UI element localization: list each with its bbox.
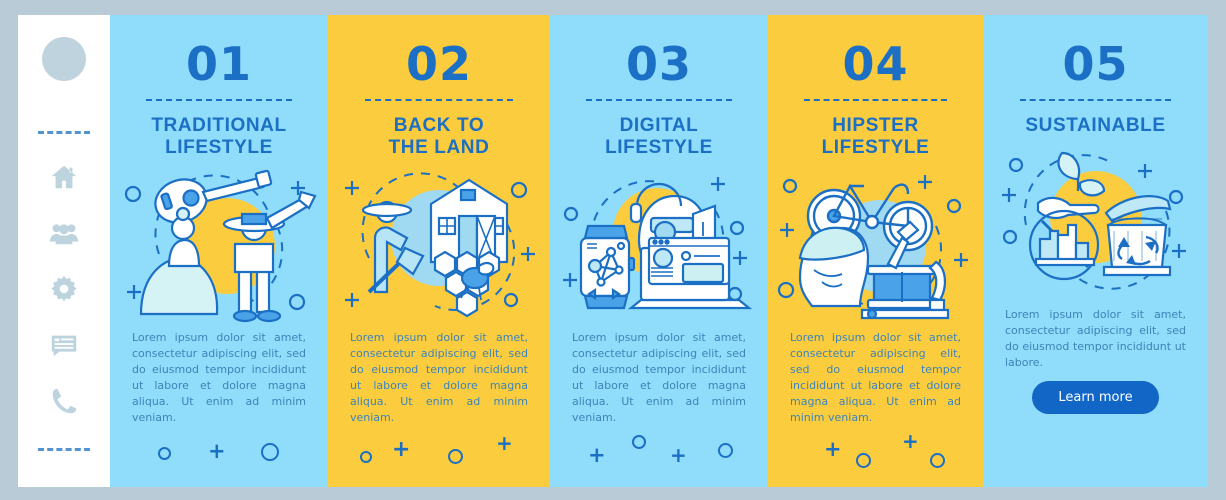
panel-number: 02	[344, 41, 534, 87]
deco-circle	[448, 449, 463, 464]
illustration-hipster-bike-head	[784, 166, 967, 326]
panel-title-line-2: LIFESTYLE	[126, 137, 312, 159]
sidebar	[18, 15, 110, 487]
phone-icon	[49, 386, 79, 416]
sidebar-divider-top	[38, 131, 90, 134]
onboarding-screens-container: 01 TRADITIONAL LIFESTYLE	[0, 0, 1226, 500]
panel-decorations: + +	[344, 431, 534, 485]
onboarding-panel-4[interactable]: 04 HIPSTER LIFESTYLE	[768, 15, 983, 487]
panel-title: BACK TO THE LAND	[344, 115, 534, 160]
panel-divider	[365, 99, 513, 101]
deco-circle	[158, 447, 171, 460]
sidebar-item-call[interactable]	[47, 384, 81, 418]
panel-divider	[146, 99, 291, 101]
illustration-folk-musicians	[126, 166, 312, 326]
deco-plus: +	[496, 433, 513, 453]
panel-title-line-1: BACK TO	[344, 115, 534, 137]
deco-plus: +	[392, 439, 410, 461]
panel-title: HIPSTER LIFESTYLE	[784, 115, 967, 160]
panel-body-text: Lorem ipsum dolor sit amet, consectetur …	[1005, 307, 1186, 371]
panel-title-line-2: LIFESTYLE	[566, 137, 752, 159]
panel-title: SUSTAINABLE	[999, 115, 1192, 137]
panel-number: 03	[566, 41, 752, 87]
panel-divider	[804, 99, 947, 101]
avatar[interactable]	[42, 37, 86, 81]
panel-body-text: Lorem ipsum dolor sit amet, consectetur …	[572, 330, 746, 426]
panel-title: DIGITAL LIFESTYLE	[566, 115, 752, 160]
deco-plus: +	[902, 431, 919, 451]
illustration-farm-barn-bee	[344, 166, 534, 326]
panel-title-line-2: THE LAND	[344, 137, 534, 159]
sidebar-nav	[47, 160, 81, 418]
deco-circle	[261, 443, 279, 461]
deco-plus: +	[824, 439, 842, 460]
panel-number: 05	[999, 41, 1192, 87]
panel-divider	[586, 99, 731, 101]
panel-number: 04	[784, 41, 967, 87]
group-icon	[49, 218, 79, 248]
gear-icon	[49, 274, 79, 304]
deco-circle	[632, 435, 646, 449]
onboarding-panel-1[interactable]: 01 TRADITIONAL LIFESTYLE	[110, 15, 328, 487]
home-icon	[49, 162, 79, 192]
panel-title-line-1: TRADITIONAL	[126, 115, 312, 137]
deco-circle	[930, 453, 945, 468]
panel-body-text: Lorem ipsum dolor sit amet, consectetur …	[132, 330, 306, 426]
deco-plus: +	[588, 445, 606, 466]
panel-number: 01	[126, 41, 312, 87]
deco-plus: +	[670, 445, 687, 465]
panel-body-text: Lorem ipsum dolor sit amet, consectetur …	[790, 330, 961, 426]
sidebar-item-home[interactable]	[47, 160, 81, 194]
panel-title-line-2: LIFESTYLE	[784, 137, 967, 159]
panel-decorations: +	[126, 431, 312, 485]
panel-decorations: + +	[784, 431, 967, 485]
panel-decorations: + +	[566, 431, 752, 485]
deco-circle	[856, 453, 871, 468]
onboarding-panel-5[interactable]: 05 SUSTAINABLE	[983, 15, 1208, 487]
deco-circle	[718, 443, 733, 458]
deco-plus: +	[208, 441, 226, 462]
onboarding-panel-3[interactable]: 03 DIGITAL LIFESTYLE	[550, 15, 768, 487]
sidebar-item-messages[interactable]	[47, 328, 81, 362]
panel-title-line-1: SUSTAINABLE	[999, 115, 1192, 137]
panel-divider	[1020, 99, 1171, 101]
chat-list-icon	[49, 330, 79, 360]
sidebar-item-settings[interactable]	[47, 272, 81, 306]
learn-more-button[interactable]: Learn more	[1032, 381, 1158, 414]
onboarding-panel-2[interactable]: 02 BACK TO THE LAND	[328, 15, 550, 487]
panel-title-line-1: DIGITAL	[566, 115, 752, 137]
panel-title-line-1: HIPSTER	[784, 115, 967, 137]
sidebar-divider-bottom	[38, 448, 90, 451]
panel-body-text: Lorem ipsum dolor sit amet, consectetur …	[350, 330, 528, 426]
illustration-sustainability	[999, 143, 1192, 303]
deco-circle	[360, 451, 372, 463]
panel-title: TRADITIONAL LIFESTYLE	[126, 115, 312, 160]
sidebar-item-people[interactable]	[47, 216, 81, 250]
illustration-digital-devices	[566, 166, 752, 326]
